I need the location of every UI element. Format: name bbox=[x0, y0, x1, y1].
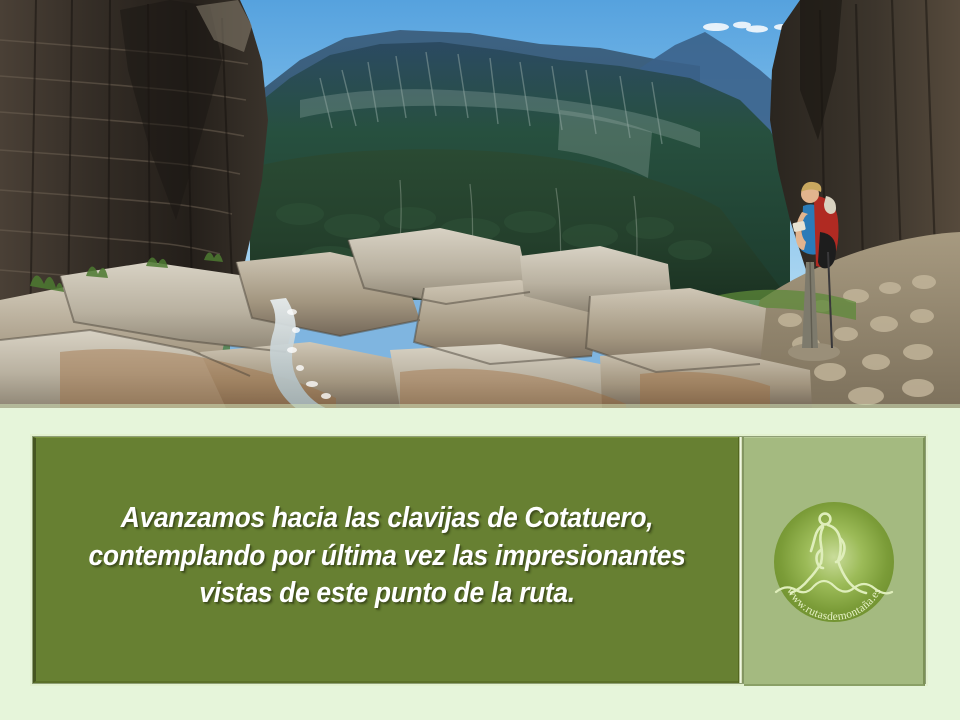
logo-pane: www.rutasdemontaña.es bbox=[744, 437, 925, 686]
rutas-de-montana-logo[interactable]: www.rutasdemontaña.es bbox=[766, 494, 902, 630]
caption-text: Avanzamos hacia las clavijas de Cotatuer… bbox=[80, 500, 694, 620]
caption-panel: Avanzamos hacia las clavijas de Cotatuer… bbox=[33, 437, 925, 683]
logo-circle bbox=[774, 502, 894, 622]
photo-scene bbox=[0, 0, 960, 408]
logo-icon: www.rutasdemontaña.es bbox=[766, 494, 902, 630]
slide-root: Avanzamos hacia las clavijas de Cotatuer… bbox=[0, 0, 960, 720]
caption-box: Avanzamos hacia las clavijas de Cotatuer… bbox=[33, 437, 738, 683]
header-photo bbox=[0, 0, 960, 408]
